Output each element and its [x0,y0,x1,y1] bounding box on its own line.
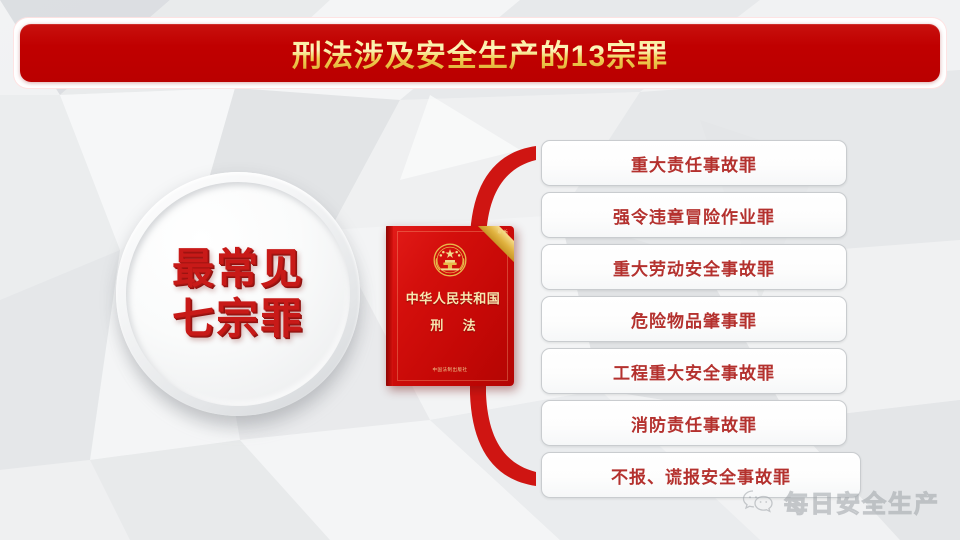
list-item[interactable]: 工程重大安全事故罪 [541,348,847,394]
list-item[interactable]: 强令违章冒险作业罪 [541,192,847,238]
book-title-line-1: 中华人民共和国 [396,288,510,307]
list-item[interactable]: 重大劳动安全事故罪 [541,244,847,290]
book-publisher: 中国法制出版社 [386,367,514,373]
book-ribbon-label: 最 新 [497,229,508,235]
book-title-line-2: 刑 法 [396,315,510,334]
crime-list: 重大责任事故罪 强令违章冒险作业罪 重大劳动安全事故罪 危险物品肇事罪 工程重大… [541,140,847,504]
badge-circle: 最常见 七宗罪 [116,172,360,416]
book-spine [386,226,393,386]
criminal-law-book: 最 新 中华人民共和国 刑 法 中国法制出版社 [386,226,514,386]
wechat-icon [742,489,776,515]
badge-line-1: 最常见 [172,244,304,294]
title-bar: 刑法涉及安全生产的13宗罪 [20,24,940,82]
slide-canvas: 刑法涉及安全生产的13宗罪 最常见 七宗罪 最 新 [0,0,960,540]
list-item[interactable]: 消防责任事故罪 [541,400,847,446]
badge-circle-inner: 最常见 七宗罪 [126,182,350,406]
crime-label: 消防责任事故罪 [631,411,757,436]
crime-label: 危险物品肇事罪 [631,307,757,332]
list-item[interactable]: 重大责任事故罪 [541,140,847,186]
badge-line-2: 七宗罪 [172,294,304,344]
watermark: 每日安全生产 [742,484,940,519]
page-title: 刑法涉及安全生产的13宗罪 [292,31,668,75]
crime-label: 工程重大安全事故罪 [613,359,775,384]
watermark-text: 每日安全生产 [784,484,940,519]
national-emblem [430,240,470,280]
crime-label: 重大劳动安全事故罪 [613,255,775,280]
crime-label: 强令违章冒险作业罪 [613,203,775,228]
list-item[interactable]: 危险物品肇事罪 [541,296,847,342]
crime-label: 重大责任事故罪 [631,151,757,176]
book-cover-title: 中华人民共和国 刑 法 [396,288,510,334]
